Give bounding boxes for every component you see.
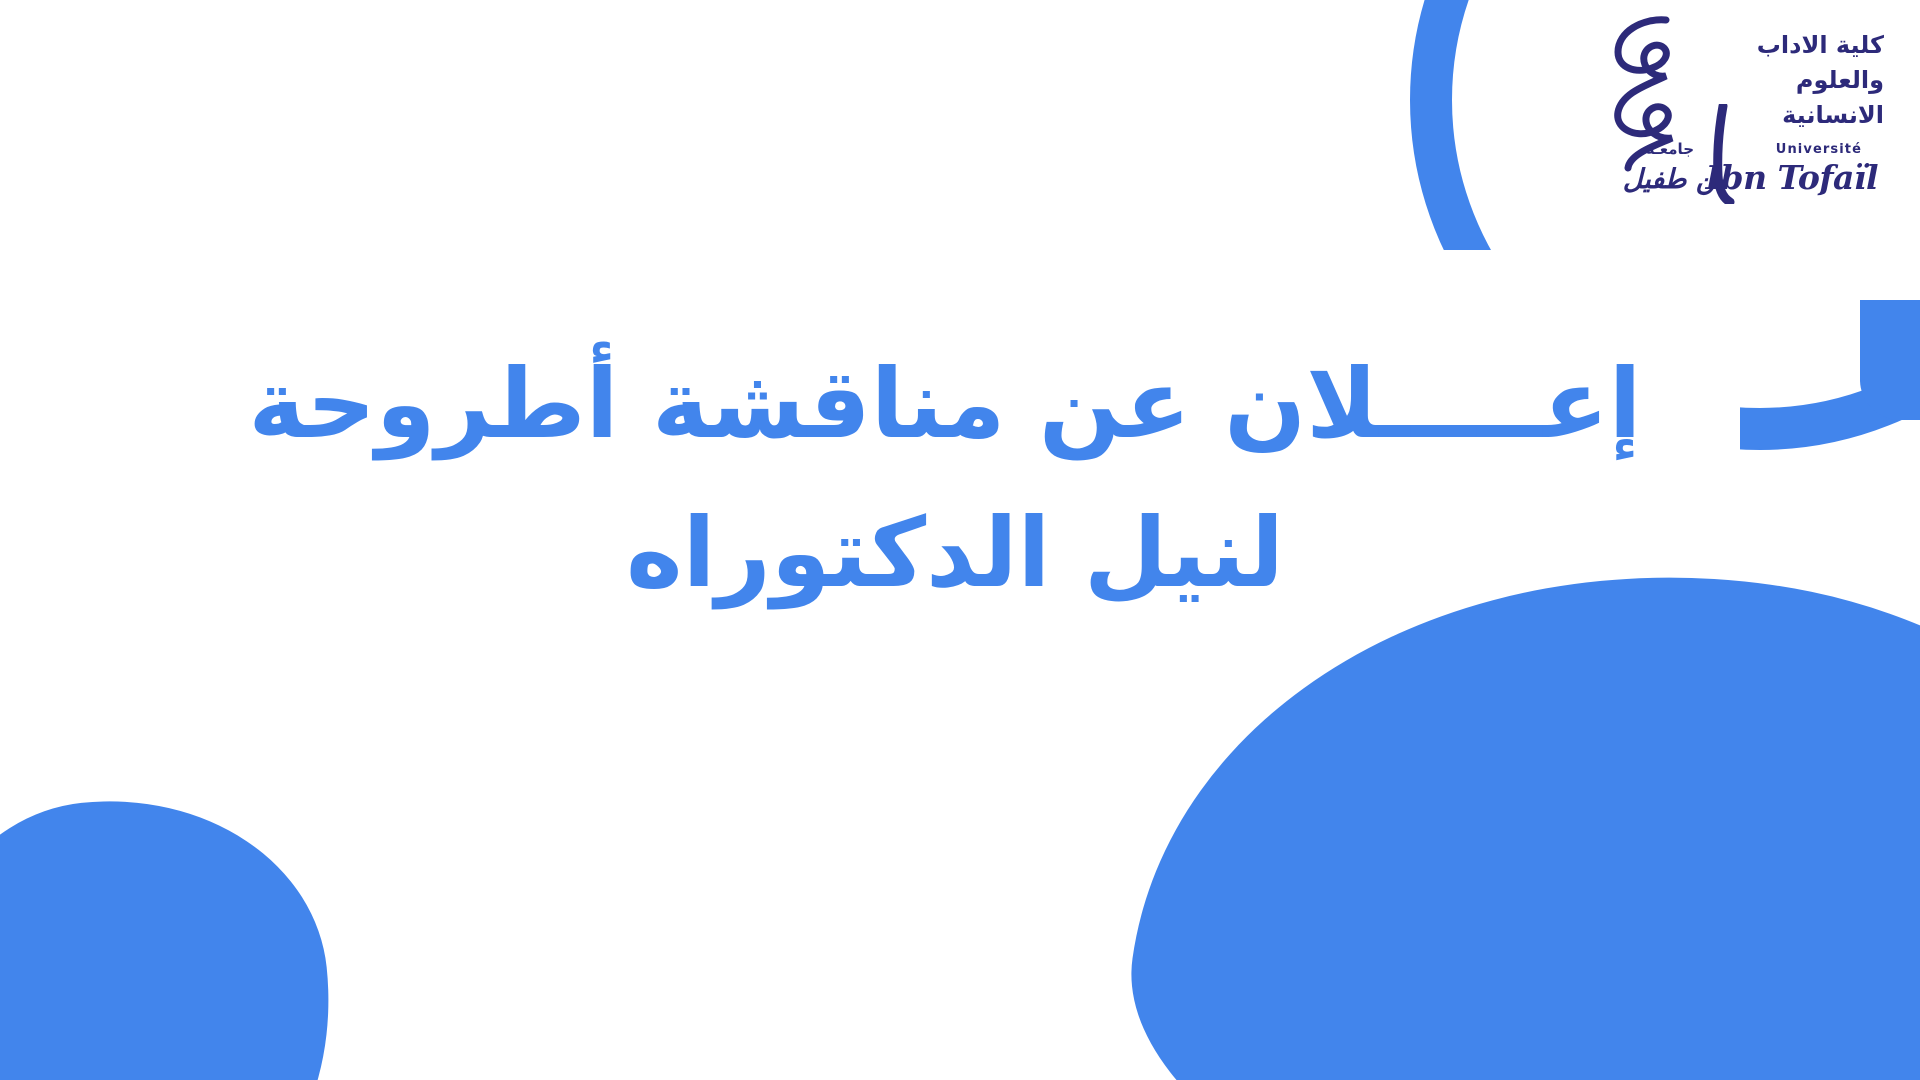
headline-line-1: إعـــــلان عن مناقشة أطروحة [0,330,1920,479]
headline-block: إعـــــلان عن مناقشة أطروحة لنيل الدكتور… [0,330,1920,628]
blob-decoration-bottom-left [0,779,351,1080]
logo-faculty-line-1: كلية الاداب [1688,28,1884,63]
logo-university-arabic: جامعـة [1646,140,1694,158]
logo-university-french-label: Université [1776,142,1862,157]
logo-name-french: Ibn Tofaïl [1706,158,1878,197]
announcement-slide: كلية الاداب والعلوم الانسانية جامعـة Uni… [0,0,1920,1080]
university-logo: كلية الاداب والعلوم الانسانية جامعـة Uni… [1554,8,1884,223]
headline-line-2: لنيل الدكتوراه [0,479,1920,628]
